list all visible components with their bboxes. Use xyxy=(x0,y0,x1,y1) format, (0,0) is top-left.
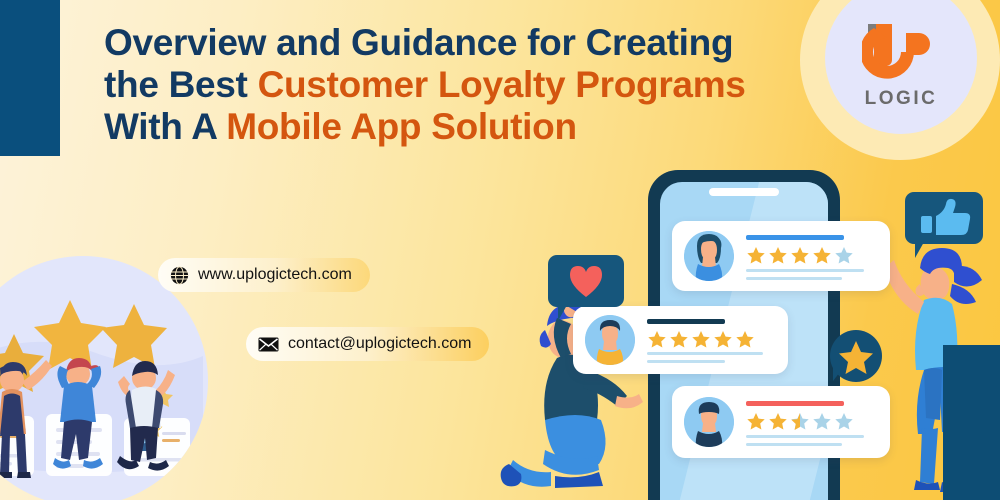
title-bar xyxy=(746,235,844,240)
title-bar xyxy=(746,401,844,406)
review-text-lines xyxy=(746,435,864,451)
review-card-middle[interactable] xyxy=(573,306,788,374)
headline-line-3: With A Mobile App Solution xyxy=(104,106,804,148)
globe-icon xyxy=(170,266,189,285)
email-pill[interactable]: contact@uplogictech.com xyxy=(246,327,489,361)
website-url: www.uplogictech.com xyxy=(198,266,352,284)
email-address: contact@uplogictech.com xyxy=(288,335,471,353)
review-text-lines xyxy=(746,269,864,285)
uplogic-logo-icon xyxy=(862,18,940,88)
star-rating xyxy=(647,330,759,348)
star-rating xyxy=(746,412,858,430)
review-text-lines xyxy=(647,352,763,368)
title-bar xyxy=(647,319,725,324)
star-speech-bubble xyxy=(830,330,882,382)
review-card-top[interactable] xyxy=(672,221,890,291)
envelope-icon xyxy=(258,337,279,352)
decorative-block-bottom-right xyxy=(943,345,1000,500)
review-card-bottom[interactable] xyxy=(672,386,890,458)
avatar xyxy=(684,231,734,281)
people-celebrating-with-stars-illustration xyxy=(0,256,208,500)
heart-speech-bubble xyxy=(548,255,624,307)
thumbs-up-speech-bubble xyxy=(905,192,983,244)
avatar xyxy=(684,397,734,447)
logo-wordmark: LOGIC xyxy=(825,88,977,110)
headline-line-1: Overview and Guidance for Creating xyxy=(104,22,804,64)
website-pill[interactable]: www.uplogictech.com xyxy=(158,258,370,292)
headline-line-2: the Best Customer Loyalty Programs xyxy=(104,64,804,106)
star-rating xyxy=(746,246,858,264)
avatar xyxy=(585,315,635,365)
decorative-block-top-left xyxy=(0,0,60,156)
page-title: Overview and Guidance for Creating the B… xyxy=(104,22,804,148)
smartphone-speaker-notch xyxy=(709,188,779,196)
promo-banner: Overview and Guidance for Creating the B… xyxy=(0,0,1000,500)
